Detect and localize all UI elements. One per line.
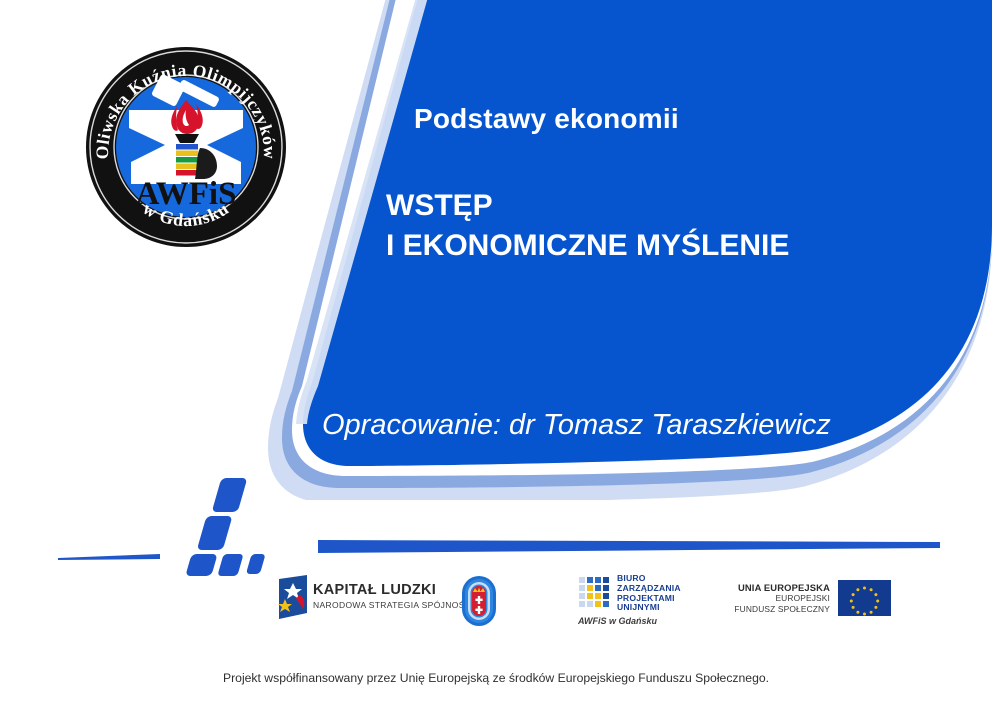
- slide-subtitle: Podstawy ekonomii: [414, 103, 679, 135]
- presentation-slide: Podstawy ekonomii WSTĘP I EKONOMICZNE MY…: [0, 0, 992, 701]
- awfis-emblem-icon: Oliwska Kuźnia Olimpijczyków w Gdańsku: [83, 44, 289, 250]
- unia-europejska-subtitle-2: FUNDUSZ SPOŁECZNY: [733, 604, 830, 615]
- slide-title: WSTĘP I EKONOMICZNE MYŚLENIE: [386, 186, 789, 266]
- unia-europejska-subtitle-1: EUROPEJSKI: [733, 593, 830, 604]
- footer-caption: Projekt współfinansowany przez Unię Euro…: [0, 671, 992, 685]
- unia-europejska-text: UNIA EUROPEJSKA EUROPEJSKI FUNDUSZ SPOŁE…: [733, 582, 830, 615]
- unia-europejska-title: UNIA EUROPEJSKA: [733, 582, 830, 593]
- divider-rule-left: [58, 554, 160, 560]
- divider-rule-right: [318, 540, 940, 553]
- emblem-wordmark: AWFiS: [136, 176, 237, 212]
- footer-logo-row: KAPITAŁ LUDZKI NARODOWA STRATEGIA SPÓJNO…: [0, 568, 992, 646]
- emblem-color-bars: [176, 144, 198, 176]
- kapital-ludzki-subtitle: NARODOWA STRATEGIA SPÓJNOŚCI: [313, 600, 474, 610]
- awfis-seal-logo-icon: [452, 572, 506, 635]
- kapital-ludzki-logo-icon: [277, 573, 313, 628]
- kapital-ludzki-title: KAPITAŁ LUDZKI: [313, 582, 474, 598]
- bzpu-text: BIURO ZARZĄDZANIA PROJEKTAMI UNIJNYMI: [617, 574, 681, 613]
- bzpu-footer-text: AWFiS w Gdańsku: [578, 616, 657, 626]
- slide-title-line2: I EKONOMICZNE MYŚLENIE: [386, 226, 789, 266]
- decorative-divider: [0, 462, 992, 577]
- bzpu-line-4: UNIJNYMI: [617, 603, 681, 613]
- awfis-emblem: Oliwska Kuźnia Olimpijczyków w Gdańsku: [83, 44, 289, 250]
- slide-author: Opracowanie: dr Tomasz Taraszkiewicz: [322, 409, 831, 442]
- decorative-divider-graphic: [0, 462, 992, 577]
- slide-title-line1: WSTĘP: [386, 186, 789, 226]
- kapital-ludzki-text: KAPITAŁ LUDZKI NARODOWA STRATEGIA SPÓJNO…: [313, 582, 474, 610]
- bzpu-logo-icon: [578, 576, 616, 617]
- eu-flag-icon: [838, 580, 891, 621]
